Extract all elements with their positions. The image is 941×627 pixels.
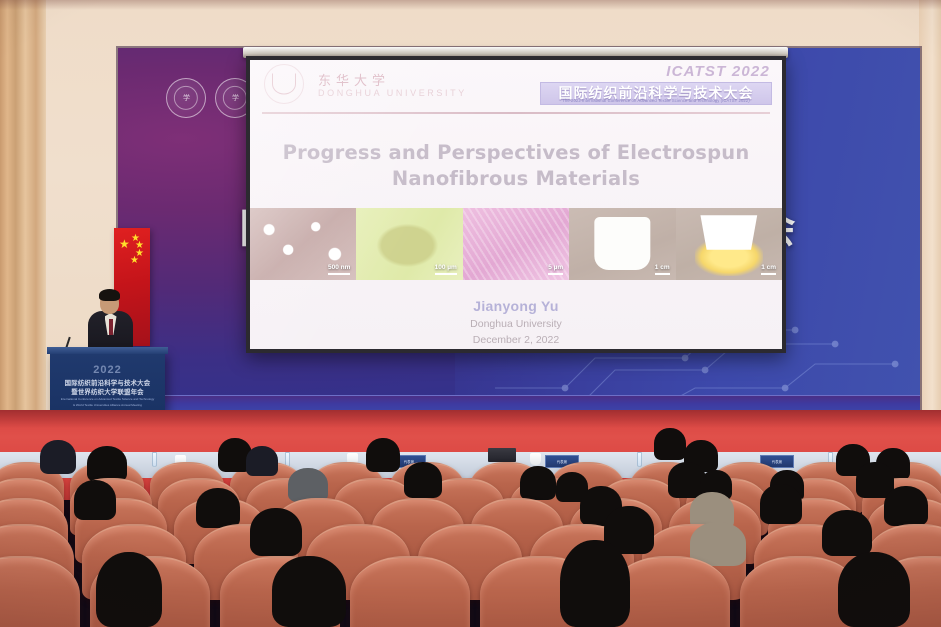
slide-image-0: 500 nm [250,208,356,280]
slide-image-4: 1 cm [676,208,782,280]
attendee [520,466,556,500]
podium-year: 2022 [50,364,165,376]
attendee [96,552,162,627]
presentation-slide: 东华大学 DONGHUA UNIVERSITY ICATST 2022 国际纺织… [250,60,782,349]
attendee [196,488,240,528]
seat [350,556,470,627]
scale-bar-label: 100 µm [435,264,457,271]
attendee [822,510,872,556]
seat [0,556,80,627]
attendee [838,552,910,627]
slide-header-divider [262,112,770,114]
attendee [87,446,127,482]
aerogel-cylinder-shape [595,217,650,270]
slide-university-name-en: DONGHUA UNIVERSITY [318,88,467,98]
scale-bar-1: 100 µm [435,264,457,275]
conference-bar-title-en: The 2022 International Conference on Adv… [541,98,771,103]
scale-bar-4: 1 cm [761,264,776,275]
slide-image-1: 100 µm [356,208,462,280]
presenter-name: Jianyong Yu [250,298,782,314]
attendee [246,446,278,476]
attendee [272,556,346,627]
slide-university-name-cn: 东华大学 [318,70,390,89]
donghua-university-logo-icon [264,64,304,104]
podium-title-en-1: International Conference on Advanced Tex… [50,397,165,401]
attendee [884,486,928,526]
slide-image-3: 1 cm [569,208,675,280]
speaker-hair [99,289,120,301]
slide-conference-bar: 国际纺织前沿科学与技术大会 The 2022 International Con… [540,82,772,105]
wall-wood-panel-left [0,0,46,430]
seal-glyph: 学 [174,86,198,110]
podium-top-surface [47,347,168,354]
scale-bar-label: 1 cm [761,264,776,271]
attendee [404,462,442,498]
attendee [288,468,328,502]
slide-image-strip: 500 nm 100 µm 5 µm 1 cm [250,208,782,280]
university-seal-icon-left: 学 [166,78,206,118]
presentation-date: December 2, 2022 [250,334,782,346]
attendee [560,540,630,627]
presenter-affiliation: Donghua University [250,318,782,330]
scale-bar-0: 500 nm [328,264,350,275]
laptop [488,448,516,462]
attendee [760,484,802,524]
scale-bar-2: 5 µm [548,264,563,275]
conference-photo-scene: 学 学 国际纺织前沿科学与技术大会 International Conferen… [0,0,941,627]
wall-panel-right [919,0,941,430]
seal-glyph: 学 [223,86,247,110]
scale-bar-label: 1 cm [655,264,670,271]
aerogel-cup-shape [698,215,760,250]
projection-screen: 东华大学 DONGHUA UNIVERSITY ICATST 2022 国际纺织… [246,56,786,353]
ceiling-shadow [0,0,941,10]
attendee [74,480,116,520]
podium-title-cn-1: 国际纺织前沿科学与技术大会 [50,378,165,387]
slide-title-line-2: Nanofibrous Materials [250,166,782,192]
speaker-tie [109,319,113,335]
slide-conference-code: ICATST 2022 [666,63,770,80]
scale-bar-3: 1 cm [655,264,670,275]
scale-bar-label: 5 µm [548,264,563,271]
podium-title-en-2: & World Textile Universities Alliance An… [50,403,165,407]
slide-header: 东华大学 DONGHUA UNIVERSITY ICATST 2022 国际纺织… [250,60,782,110]
slide-image-2: 5 µm [463,208,569,280]
stage-floor-shadow [0,410,941,428]
scale-bar-label: 500 nm [328,264,350,271]
attendee [366,438,400,472]
attendee [654,428,686,460]
podium-title-cn-2: 暨世界纺织大学联盟年会 [50,387,165,396]
attendee [250,508,302,556]
slide-title-line-1: Progress and Perspectives of Electrospun [250,140,782,166]
attendee [40,440,76,474]
slide-title: Progress and Perspectives of Electrospun… [250,140,782,191]
